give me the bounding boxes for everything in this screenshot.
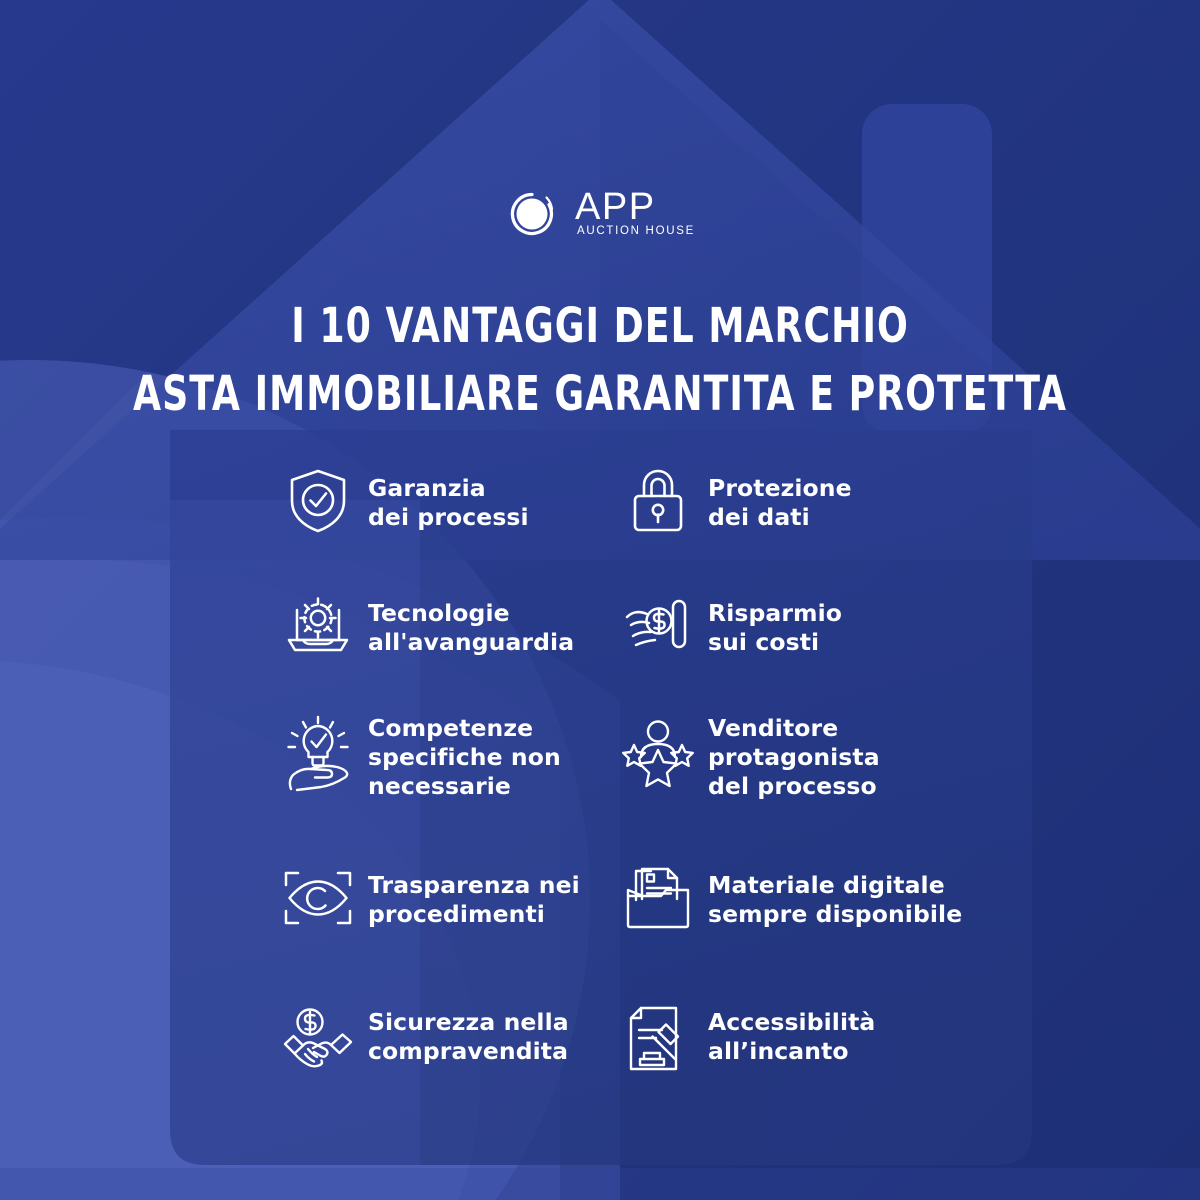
benefit-item-garanzia-dei-processi: Garanzia dei processi [285, 468, 625, 593]
benefit-item-accessibilita-allincanto: Accessibilità all’incanto [625, 1002, 985, 1122]
benefit-label: Tecnologie all'avanguardia [368, 593, 574, 657]
padlock-icon [625, 468, 691, 534]
lightbulb-hand-icon [285, 720, 351, 786]
benefit-item-trasparenza-nei-procedimenti: Trasparenza nei procedimenti [285, 865, 625, 1002]
shield-check-icon [285, 468, 351, 534]
benefit-item-protezione-dei-dati: Protezione dei dati [625, 468, 985, 593]
benefit-label: Accessibilità all’incanto [708, 1002, 875, 1066]
handshake-money-icon [285, 1006, 351, 1072]
benefit-label: Risparmio sui costi [708, 593, 842, 657]
eye-focus-icon [285, 865, 351, 931]
hand-money-icon [625, 593, 691, 659]
benefit-item-tecnologie-allavanguardia: Tecnologie all'avanguardia [285, 593, 625, 712]
title-line-1: I 10 VANTAGGI DEL MARCHIO [96, 292, 1104, 360]
brand-tagline: AUCTION HOUSE [575, 224, 695, 239]
benefit-label: Competenze specifiche non necessarie [368, 712, 561, 801]
benefit-label: Garanzia dei processi [368, 468, 529, 532]
benefit-item-materiale-digitale-sempre-disponibile: Materiale digitale sempre disponibile [625, 865, 985, 1002]
benefit-item-sicurezza-nella-compravendita: Sicurezza nella compravendita [285, 1002, 625, 1122]
benefit-label: Materiale digitale sempre disponibile [708, 865, 962, 929]
benefit-label: Trasparenza nei procedimenti [368, 865, 580, 929]
page-title: I 10 VANTAGGI DEL MARCHIO ASTA IMMOBILIA… [0, 292, 1200, 428]
benefit-item-risparmio-sui-costi: Risparmio sui costi [625, 593, 985, 712]
benefit-item-competenze-specifiche-non-necessarie: Competenze specifiche non necessarie [285, 712, 625, 865]
brand-logo: APP AUCTION HOUSE [0, 186, 1200, 242]
brand-name: APP [575, 190, 656, 224]
document-gavel-icon [625, 1006, 691, 1072]
benefits-grid: Garanzia dei processi Protezione dei dat… [285, 468, 985, 1122]
laptop-gear-icon [285, 593, 351, 659]
title-line-2: ASTA IMMOBILIARE GARANTITA E PROTETTA [96, 360, 1104, 428]
benefit-label: Sicurezza nella compravendita [368, 1002, 569, 1066]
person-stars-icon [625, 720, 691, 786]
benefit-label: Protezione dei dati [708, 468, 852, 532]
benefit-label: Venditore protagonista del processo [708, 712, 880, 801]
benefit-item-venditore-protagonista-del-processo: Venditore protagonista del processo [625, 712, 985, 865]
circle-arc-logo-icon [505, 186, 561, 242]
folder-documents-icon [625, 865, 691, 931]
